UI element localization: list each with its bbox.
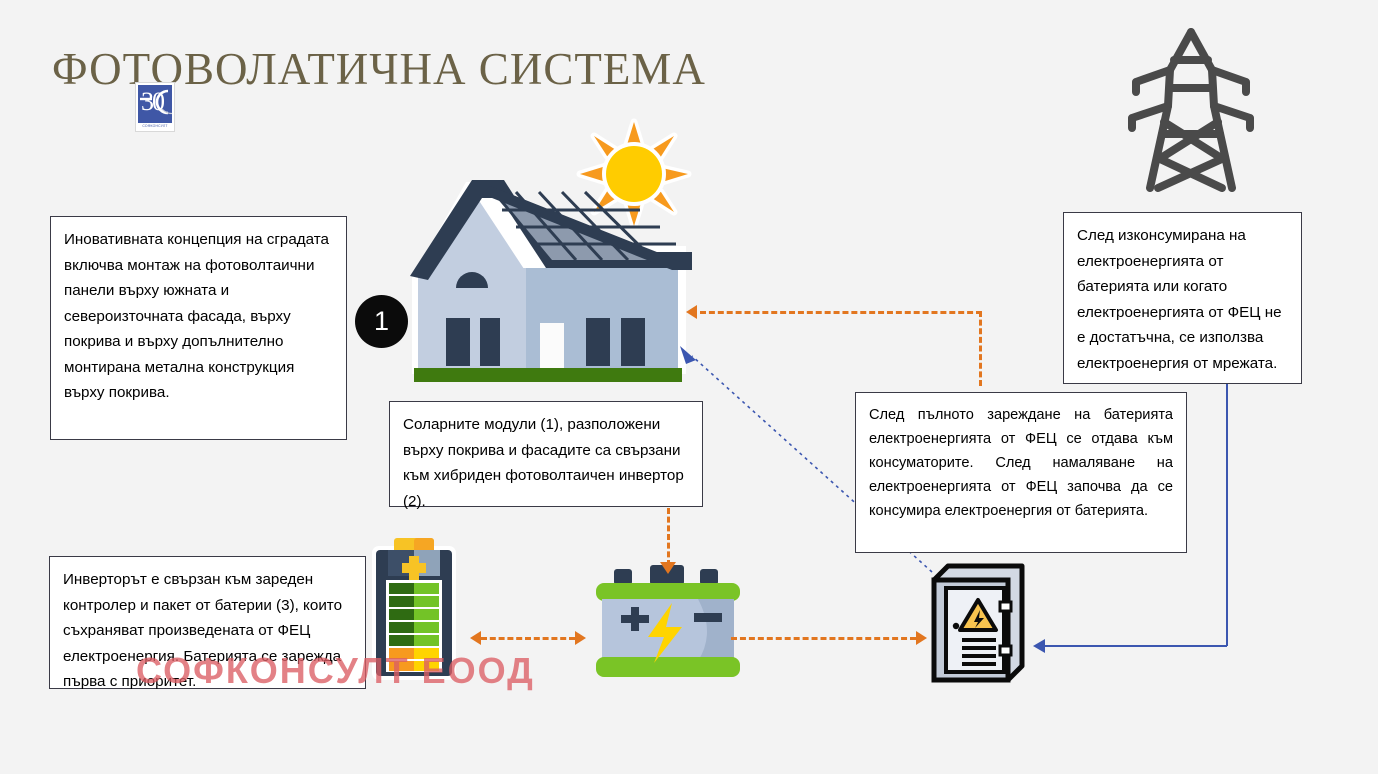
battery-pack-icon [368,536,460,684]
modules-to-battery-flow [667,508,670,566]
car-battery-to-panel-arrowhead [916,631,927,645]
electrical-panel-icon [930,562,1028,684]
pack-to-car-battery-flow [481,637,575,640]
logo-caption: СОФКОНСУЛТ [138,123,172,129]
callout-inverter: Инверторът е свързан към зареден контрол… [49,556,366,689]
car-battery-to-panel-flow [731,637,916,640]
modules-to-battery-arrowhead [660,562,676,574]
pack-flow-arrowhead-right [575,631,586,645]
logo-swirl-icon [138,85,172,123]
grid-to-panel-arrowhead [1033,639,1045,653]
callout-modules: Соларните модули (1), разположени върху … [389,401,703,507]
callout-building: Иновативната концепция на сградата включ… [50,216,347,440]
panel-to-house-flow-vertical [979,311,982,386]
car-battery-icon [588,563,748,691]
callout-grid: След изконсумирана на електроенергията о… [1063,212,1302,384]
grid-to-panel-flow-horizontal [1045,645,1227,647]
callout-battery-full: След пълното зареждане на батерията елек… [855,392,1187,553]
grid-to-panel-flow-vertical [1226,384,1228,646]
logo-plate: 30 [138,85,172,123]
step-badge-1: 1 [355,295,408,348]
panel-to-house-flow-horizontal [700,311,982,314]
power-transmission-tower-icon [1122,26,1260,194]
panel-to-house-arrowhead [686,305,697,319]
brand-logo: 30 СОФКОНСУЛТ [135,82,175,132]
house-with-solar-panels-icon [404,168,694,393]
diagram-canvas: ФОТОВОЛАТИЧНА СИСТЕМА 30 СОФКОНСУЛТ [0,0,1378,774]
pack-flow-arrowhead-left [470,631,481,645]
